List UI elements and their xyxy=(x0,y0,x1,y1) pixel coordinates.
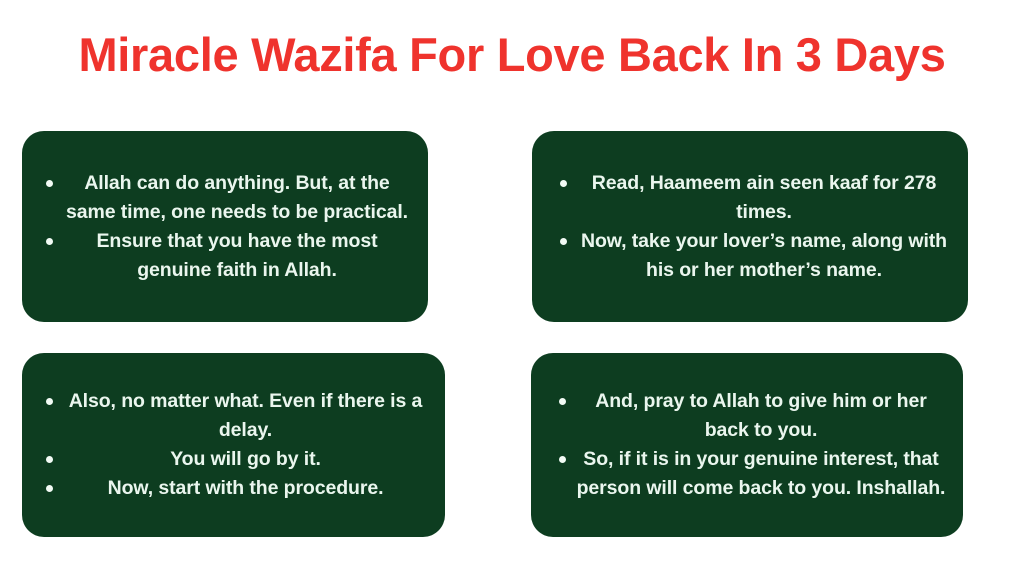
bullet-list: Read, Haameem ain seen kaaf for 278 time… xyxy=(542,169,958,285)
list-item-text: So, if it is in your genuine interest, t… xyxy=(577,448,946,499)
list-item-text: Now, take your lover’s name, along with … xyxy=(581,230,947,281)
bullet-dot-icon xyxy=(46,398,53,405)
list-item: You will go by it. xyxy=(32,445,435,474)
slide-root: Miracle Wazifa For Love Back In 3 Days A… xyxy=(0,0,1024,576)
list-item: Read, Haameem ain seen kaaf for 278 time… xyxy=(542,169,958,227)
bullet-dot-icon xyxy=(560,180,567,187)
list-item: Also, no matter what. Even if there is a… xyxy=(32,387,435,445)
list-item-text: Also, no matter what. Even if there is a… xyxy=(69,390,423,441)
card-top-right: Read, Haameem ain seen kaaf for 278 time… xyxy=(532,131,968,322)
list-item-text: Now, start with the procedure. xyxy=(108,477,384,499)
card-bottom-left: Also, no matter what. Even if there is a… xyxy=(22,353,445,537)
list-item: Now, start with the procedure. xyxy=(32,474,435,503)
list-item: Allah can do anything. But, at the same … xyxy=(32,169,418,227)
list-item: So, if it is in your genuine interest, t… xyxy=(541,445,953,503)
bullet-dot-icon xyxy=(46,238,53,245)
card-bottom-right: And, pray to Allah to give him or her ba… xyxy=(531,353,963,537)
list-item: Now, take your lover’s name, along with … xyxy=(542,227,958,285)
bullet-list: Also, no matter what. Even if there is a… xyxy=(32,387,435,503)
bullet-dot-icon xyxy=(559,398,566,405)
bullet-dot-icon xyxy=(559,456,566,463)
card-top-left: Allah can do anything. But, at the same … xyxy=(22,131,428,322)
list-item-text: You will go by it. xyxy=(170,448,321,470)
page-title: Miracle Wazifa For Love Back In 3 Days xyxy=(0,26,1024,84)
list-item: Ensure that you have the most genuine fa… xyxy=(32,227,418,285)
bullet-dot-icon xyxy=(46,180,53,187)
list-item-text: Read, Haameem ain seen kaaf for 278 time… xyxy=(592,172,936,223)
list-item-text: And, pray to Allah to give him or her ba… xyxy=(595,390,926,441)
bullet-dot-icon xyxy=(46,456,53,463)
bullet-dot-icon xyxy=(46,485,53,492)
bullet-list: And, pray to Allah to give him or her ba… xyxy=(541,387,953,503)
list-item: And, pray to Allah to give him or her ba… xyxy=(541,387,953,445)
list-item-text: Ensure that you have the most genuine fa… xyxy=(97,230,378,281)
bullet-dot-icon xyxy=(560,238,567,245)
list-item-text: Allah can do anything. But, at the same … xyxy=(66,172,408,223)
bullet-list: Allah can do anything. But, at the same … xyxy=(32,169,418,285)
